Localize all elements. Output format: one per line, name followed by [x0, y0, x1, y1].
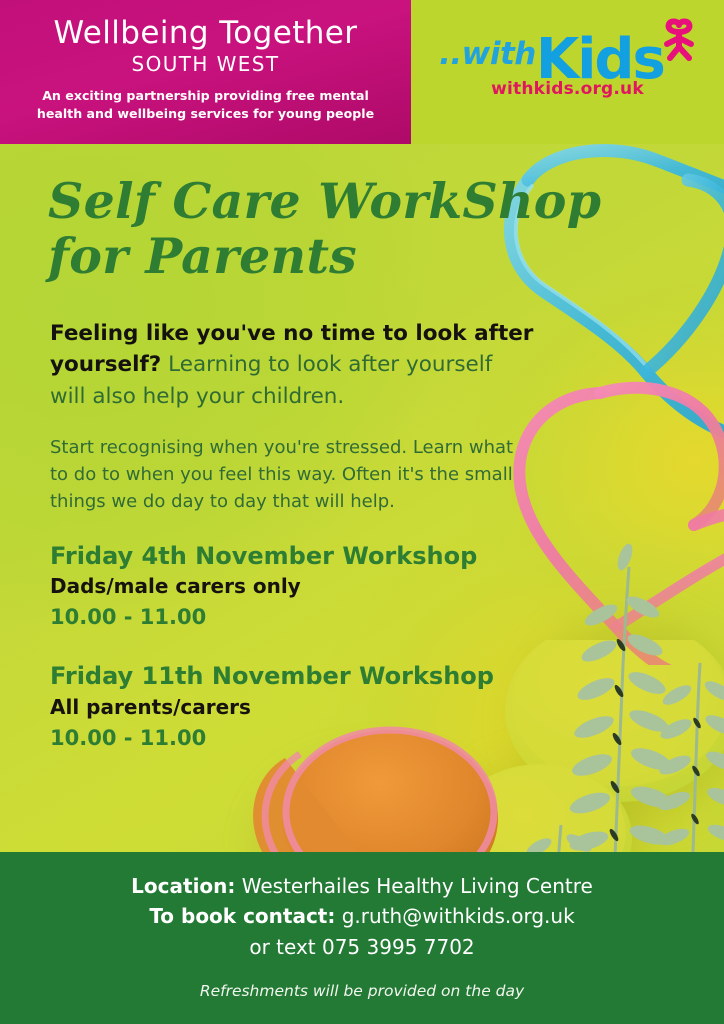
session-1-audience: Dads/male carers only	[50, 573, 724, 600]
footer-note: Refreshments will be provided on the day	[0, 982, 724, 1000]
footer-location-label: Location:	[131, 874, 235, 898]
headline-line-1: Self Care WorkShop	[48, 172, 601, 230]
brand-header-band: Wellbeing Together SOUTH WEST An excitin…	[0, 0, 411, 144]
session-1-title: Friday 4th November Workshop	[50, 541, 724, 571]
footer-location-value: Westerhailes Healthy Living Centre	[235, 874, 592, 898]
brand-subtitle: SOUTH WEST	[0, 52, 411, 76]
withkids-logo-panel: ..withKids withkids.org.uk	[411, 0, 724, 144]
footer-location-line: Location: Westerhailes Healthy Living Ce…	[0, 871, 724, 901]
poster-canvas: Wellbeing Together SOUTH WEST An excitin…	[0, 0, 724, 1024]
footer-contact-value[interactable]: g.ruth@withkids.org.uk	[335, 904, 574, 928]
contact-footer: Location: Westerhailes Healthy Living Ce…	[0, 852, 724, 1024]
page-title: Self Care WorkShop for Parents	[0, 144, 724, 284]
lead-paragraph: Feeling like you've no time to look afte…	[0, 284, 724, 412]
footer-text-line: or text 075 3995 7702	[0, 932, 724, 962]
brand-tagline: An exciting partnership providing free m…	[0, 87, 411, 124]
session-1-time: 10.00 - 11.00	[50, 603, 724, 631]
logo-with-text: ..with	[439, 36, 536, 72]
headline-line-2: for Parents	[48, 229, 724, 284]
session-2-time: 10.00 - 11.00	[50, 724, 724, 752]
logo-wordmark: ..withKids	[439, 18, 696, 80]
session-block-2: Friday 11th November Workshop All parent…	[0, 661, 724, 752]
withkids-logo[interactable]: ..withKids withkids.org.uk	[411, 18, 724, 99]
child-figure-icon	[662, 18, 696, 67]
footer-contact-line: To book contact: g.ruth@withkids.org.uk	[0, 901, 724, 931]
body-paragraph: Start recognising when you're stressed. …	[0, 412, 724, 515]
poster-content: Self Care WorkShop for Parents Feeling l…	[0, 144, 724, 752]
footer-contact-label: To book contact:	[149, 904, 335, 928]
logo-kids-text: Kids	[536, 27, 664, 92]
session-2-audience: All parents/carers	[50, 694, 724, 721]
brand-title: Wellbeing Together	[0, 16, 411, 50]
session-2-title: Friday 11th November Workshop	[50, 661, 724, 691]
session-block-1: Friday 4th November Workshop Dads/male c…	[0, 541, 724, 632]
